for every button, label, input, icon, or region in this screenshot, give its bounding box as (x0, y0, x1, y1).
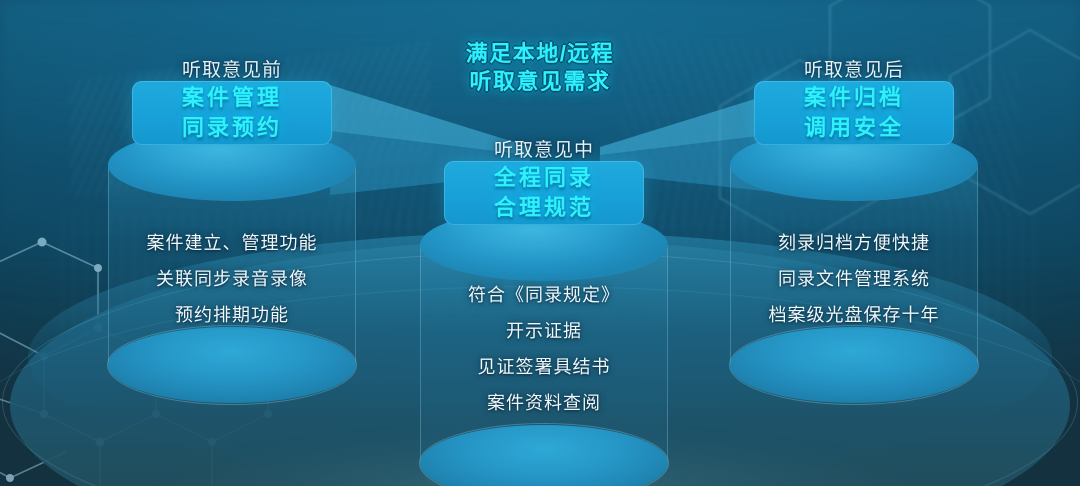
bullet-item: 档案级光盘保存十年 (730, 297, 978, 333)
card-after[interactable]: 案件归档 调用安全 (754, 81, 954, 145)
bullets-before: 案件建立、管理功能 关联同步录音录像 预约排期功能 (108, 225, 356, 333)
card-before-line-1: 案件管理 (182, 85, 282, 111)
slide-canvas: 满足本地/远程 听取意见需求 听取意见前 案件管理 同录预约 案件建立、管理功能… (0, 0, 1080, 486)
card-during-line-1: 全程同录 (494, 165, 594, 191)
card-before[interactable]: 案件管理 同录预约 (132, 81, 332, 145)
bullet-item: 符合《同录规定》 (420, 277, 668, 313)
card-during-line-2: 合理规范 (494, 195, 594, 221)
card-after-line-1: 案件归档 (804, 85, 904, 111)
bullet-item: 关联同步录音录像 (108, 261, 356, 297)
card-before-line-2: 同录预约 (182, 115, 282, 141)
bullet-item: 案件建立、管理功能 (108, 225, 356, 261)
bullets-during: 符合《同录规定》 开示证据 见证签署具结书 案件资料查阅 (420, 277, 668, 421)
phase-label-during: 听取意见中 (420, 135, 668, 162)
column-during[interactable]: 听取意见中 全程同录 合理规范 符合《同录规定》 开示证据 见证签署具结书 案件… (420, 135, 668, 465)
headline-line-2: 听取意见需求 (400, 68, 680, 96)
bullet-item: 开示证据 (420, 313, 668, 349)
bullets-after: 刻录归档方便快捷 同录文件管理系统 档案级光盘保存十年 (730, 225, 978, 333)
card-after-line-2: 调用安全 (804, 115, 904, 141)
card-during[interactable]: 全程同录 合理规范 (444, 161, 644, 225)
headline-line-1: 满足本地/远程 (400, 40, 680, 68)
headline: 满足本地/远程 听取意见需求 (400, 40, 680, 96)
bullet-item: 案件资料查阅 (420, 385, 668, 421)
bullet-item: 预约排期功能 (108, 297, 356, 333)
bullet-item: 刻录归档方便快捷 (730, 225, 978, 261)
bullet-item: 见证签署具结书 (420, 349, 668, 385)
phase-label-after: 听取意见后 (730, 55, 978, 82)
column-after[interactable]: 听取意见后 案件归档 调用安全 刻录归档方便快捷 同录文件管理系统 档案级光盘保… (730, 55, 978, 385)
bullet-item: 同录文件管理系统 (730, 261, 978, 297)
phase-label-before: 听取意见前 (108, 55, 356, 82)
column-before[interactable]: 听取意见前 案件管理 同录预约 案件建立、管理功能 关联同步录音录像 预约排期功… (108, 55, 356, 385)
